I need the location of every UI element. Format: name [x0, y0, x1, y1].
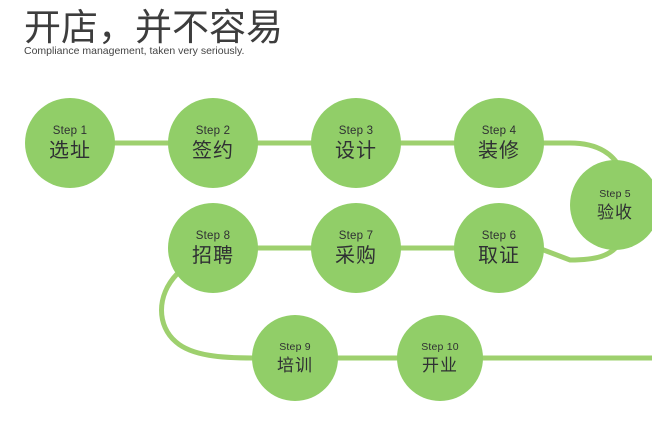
node-step-label: Step 3: [339, 124, 373, 138]
node-step-name: 取证: [478, 244, 520, 268]
node-step-label: Step 1: [53, 124, 87, 138]
node-step-label: Step 6: [482, 229, 516, 243]
node-step-1[interactable]: Step 1 选址: [25, 98, 115, 188]
node-step-label: Step 7: [339, 229, 373, 243]
node-step-label: Step 10: [421, 341, 459, 354]
node-step-name: 签约: [192, 139, 234, 163]
node-step-8[interactable]: Step 8 招聘: [168, 203, 258, 293]
node-step-name: 培训: [277, 355, 313, 376]
node-step-4[interactable]: Step 4 装修: [454, 98, 544, 188]
node-step-label: Step 9: [279, 341, 311, 354]
node-step-name: 设计: [335, 139, 377, 163]
node-step-name: 招聘: [192, 244, 234, 268]
node-step-2[interactable]: Step 2 签约: [168, 98, 258, 188]
node-step-label: Step 8: [196, 229, 230, 243]
node-step-name: 验收: [597, 202, 633, 223]
node-step-7[interactable]: Step 7 采购: [311, 203, 401, 293]
node-step-name: 采购: [335, 244, 377, 268]
node-step-5[interactable]: Step 5 验收: [570, 160, 652, 250]
node-step-9[interactable]: Step 9 培训: [252, 315, 338, 401]
node-step-3[interactable]: Step 3 设计: [311, 98, 401, 188]
node-step-name: 选址: [49, 139, 91, 163]
node-step-label: Step 2: [196, 124, 230, 138]
node-step-label: Step 4: [482, 124, 516, 138]
node-step-10[interactable]: Step 10 开业: [397, 315, 483, 401]
node-step-6[interactable]: Step 6 取证: [454, 203, 544, 293]
node-step-name: 开业: [422, 355, 458, 376]
node-step-label: Step 5: [599, 188, 631, 201]
node-step-name: 装修: [478, 139, 520, 163]
diagram-canvas: 开店，并不容易 Compliance management, taken ver…: [0, 0, 652, 422]
